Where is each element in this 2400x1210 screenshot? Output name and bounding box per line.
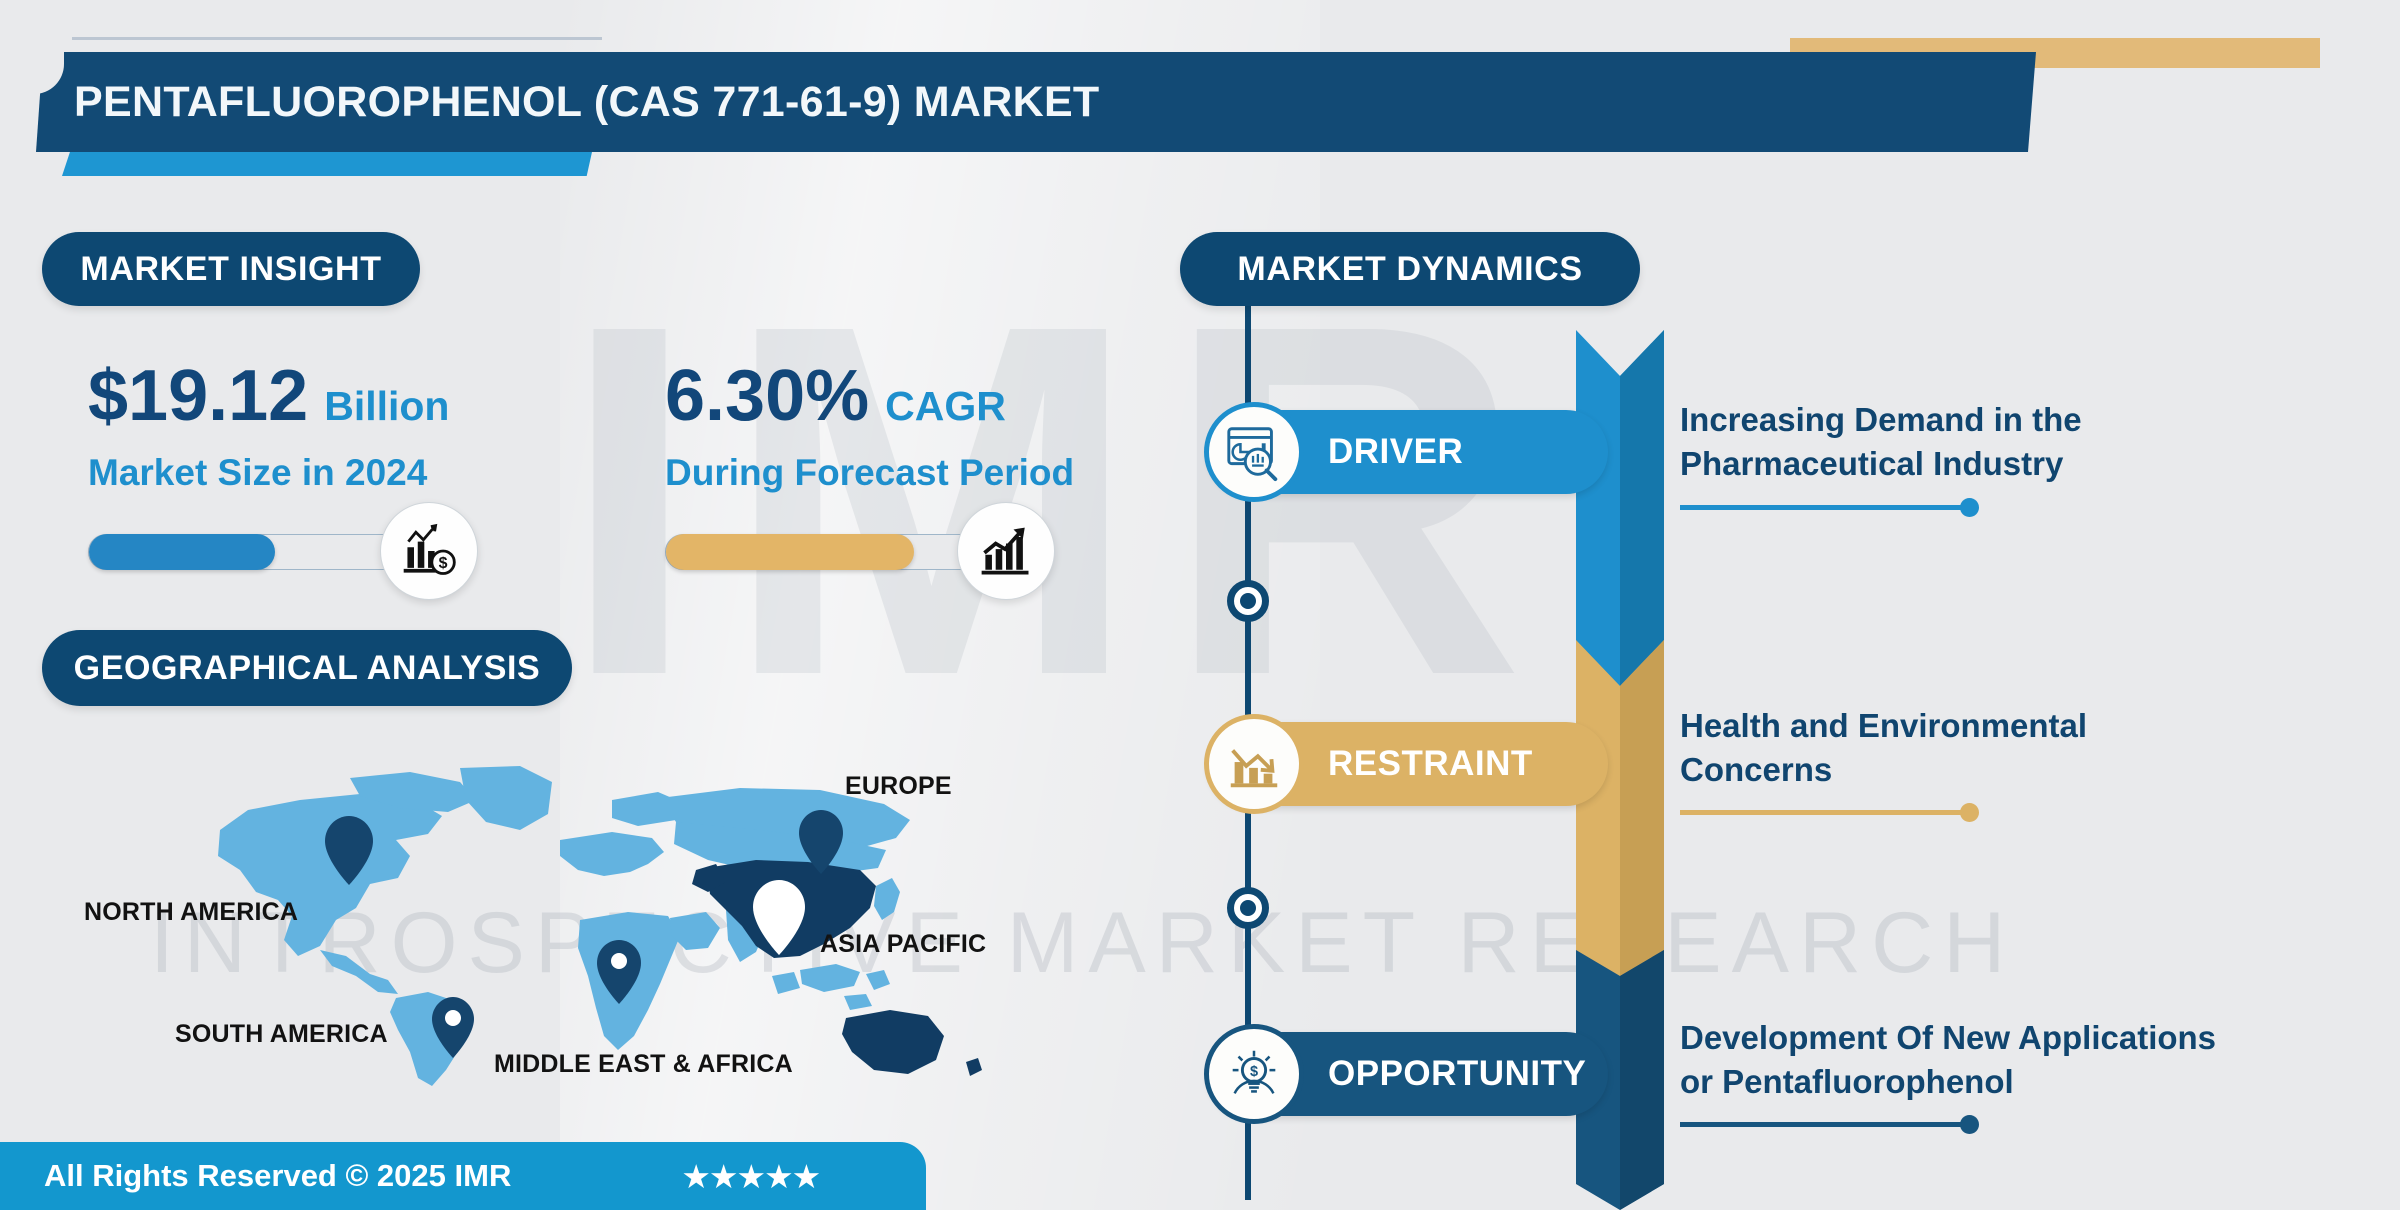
kpi-cagr: 6.30% CAGR During Forecast Period [665,360,1074,494]
driver-underline [1680,505,1970,510]
opportunity-description: Development Of New Applications or Penta… [1680,1016,2216,1104]
kpi-market-size-unit: Billion [324,386,449,427]
opportunity-description-line2: or Pentafluorophenol [1680,1060,2216,1104]
frame-corner-top-left [0,0,64,94]
map-label-europe: EUROPE [845,772,952,801]
section-label-market-dynamics: MARKET DYNAMICS [1180,232,1640,306]
svg-text:$: $ [1250,1064,1258,1080]
restraint-description-line1: Health and Environmental [1680,704,2087,748]
kpi-market-size-value: $19.12 [88,360,308,432]
frame-corner-top-right [2370,0,2400,110]
restraint-label: RESTRAINT [1328,744,1533,784]
driver-description: Increasing Demand in the Pharmaceutical … [1680,398,2082,486]
bar-chart-dollar-icon: $ [380,502,478,600]
map-label-middle-east-africa: MIDDLE EAST & AFRICA [494,1050,793,1079]
spine-node [1227,887,1269,929]
kpi-market-size-caption: Market Size in 2024 [88,452,449,494]
footer-bar: All Rights Reserved © 2025 IMR ★★★★★ [0,1142,926,1210]
section-label-market-insight: MARKET INSIGHT [42,232,420,306]
map-label-north-america: NORTH AMERICA [84,898,298,927]
progress-track [88,534,420,570]
section-label-geographical-analysis: GEOGRAPHICAL ANALYSIS [42,630,572,706]
declining-bar-chart-icon [1204,714,1304,814]
spine-node [1227,580,1269,622]
opportunity-tab[interactable]: $ OPPORTUNITY [1208,1032,1608,1116]
analytics-magnifier-icon [1204,402,1304,502]
kpi-market-size: $19.12 Billion Market Size in 2024 [88,360,449,494]
opportunity-underline [1680,1122,1970,1127]
driver-description-line1: Increasing Demand in the [1680,398,2082,442]
header-hairline [72,37,602,40]
kpi-cagr-progress [665,534,997,570]
kpi-market-size-value-row: $19.12 Billion [88,360,449,432]
progress-fill [89,534,275,570]
growth-chart-arrow-icon [957,502,1055,600]
kpi-market-size-progress: $ [88,534,420,570]
svg-text:$: $ [439,555,448,572]
opportunity-label: OPPORTUNITY [1328,1054,1586,1094]
restraint-description-line2: Concerns [1680,748,2087,792]
map-label-asia-pacific: ASIA PACIFIC [820,930,986,959]
kpi-cagr-caption: During Forecast Period [665,452,1074,494]
infographic-canvas: IMR INTROSPECTIVE MARKET RESEARCH PENTAF… [0,0,2400,1210]
opportunity-description-line1: Development Of New Applications [1680,1016,2216,1060]
header-blue-accent [62,152,592,176]
kpi-cagr-value: 6.30% [665,360,869,432]
lightbulb-dollar-icon: $ [1204,1024,1304,1124]
progress-fill [666,534,914,570]
header-bar: PENTAFLUOROPHENOL (CAS 771-61-9) MARKET [36,52,2036,152]
rating-stars: ★★★★★ [681,1157,819,1196]
restraint-underline [1680,810,1970,815]
driver-description-line2: Pharmaceutical Industry [1680,442,2082,486]
kpi-cagr-value-row: 6.30% CAGR [665,360,1074,432]
map-label-south-america: SOUTH AMERICA [175,1020,388,1049]
progress-track [665,534,997,570]
driver-label: DRIVER [1328,432,1463,472]
restraint-tab[interactable]: RESTRAINT [1208,722,1608,806]
imr-watermark-logo: IMR [560,250,1549,750]
restraint-description: Health and Environmental Concerns [1680,704,2087,792]
kpi-cagr-unit: CAGR [885,386,1006,427]
driver-tab[interactable]: DRIVER [1208,410,1608,494]
copyright-text: All Rights Reserved © 2025 IMR [44,1158,511,1194]
page-title: PENTAFLUOROPHENOL (CAS 771-61-9) MARKET [74,78,1100,127]
